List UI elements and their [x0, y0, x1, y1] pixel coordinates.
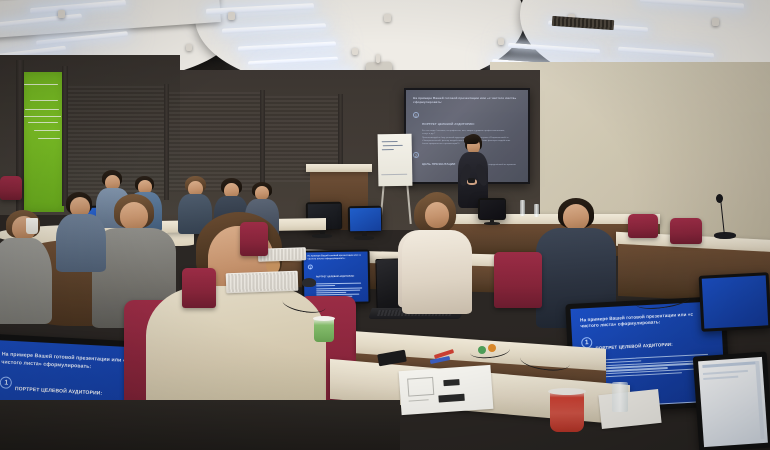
presenter-phone [468, 178, 475, 183]
monitor-white-bottom-right [693, 352, 770, 450]
keyboard-foreground[interactable] [226, 271, 299, 294]
mouse[interactable] [302, 278, 316, 287]
screen-bullet-heading: ПОРТРЕТ ЦЕЛЕВОЙ АУДИТОРИИ: [422, 122, 475, 126]
chair-empty[interactable] [628, 214, 658, 238]
classroom-photo: На примере Вашей готовой презентации или… [0, 0, 770, 450]
chair-row[interactable] [240, 222, 268, 256]
microphone-base [714, 232, 736, 239]
mon-l-bullet-number: 1 [0, 376, 13, 389]
chair-empty[interactable] [670, 218, 702, 244]
chair-row[interactable] [182, 268, 216, 308]
screen-bullet-number: 1 [413, 112, 419, 118]
green-accent-panel [22, 72, 64, 212]
glass-tumbler [612, 382, 628, 412]
screen-bullet-number-2: 2 [413, 152, 419, 158]
coffee-cup-white[interactable] [26, 218, 38, 234]
podium-top [306, 164, 372, 172]
screen-slide-title-2: сформулировать: [413, 100, 442, 104]
monitor-back-right [348, 206, 382, 233]
notepad-sheet [598, 389, 661, 429]
student-blue-shirt [56, 192, 106, 268]
coffee-cup-red[interactable] [550, 390, 584, 432]
chair-row[interactable] [494, 252, 542, 308]
water-bottle [520, 200, 525, 216]
flipchart-easel [378, 134, 413, 187]
microphone-head [716, 194, 723, 203]
mon-r-bullet-heading: ПОРТРЕТ ЦЕЛЕВОЙ АУДИТОРИИ: [595, 342, 672, 351]
chair-row[interactable] [0, 176, 22, 200]
monitor-white-screen [698, 357, 768, 447]
front-desk-monitor [478, 198, 506, 220]
printed-handout [399, 365, 494, 415]
coffee-cup-green[interactable] [314, 318, 334, 342]
mon-slide-title-2: сформулировать: [325, 258, 345, 260]
floor [0, 400, 400, 450]
screen-slide-title-1: На примере Вашей готовой презентации или… [413, 96, 516, 100]
mon-l-bullet-heading: ПОРТРЕТ ЦЕЛЕВОЙ АУДИТОРИИ: [15, 386, 103, 397]
monitor-right-behind [699, 272, 770, 332]
student-cream-center [400, 192, 472, 312]
mon-r-slide-title-2: сформулировать: [618, 319, 661, 326]
mon-l-slide-title-2: сформулировать: [43, 361, 91, 370]
screen-bullet-heading-2: ЦЕЛЬ ПРЕЗЕНТАЦИИ [422, 162, 455, 166]
